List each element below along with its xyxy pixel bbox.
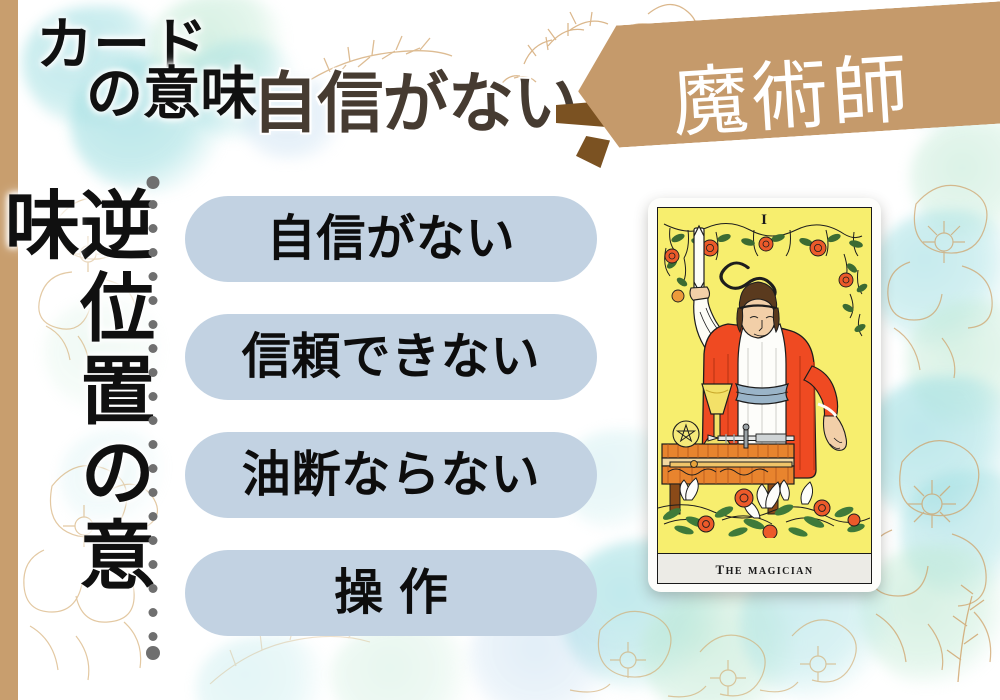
watercolor-blob (900, 470, 1000, 600)
list-item-label: 自信がない (267, 215, 516, 264)
section-label-vertical: 逆位置の意味 (52, 186, 148, 656)
watercolor-blob (860, 545, 1000, 685)
gold-sprig-line-art (930, 576, 1000, 686)
list-item[interactable]: 自信がない (185, 196, 597, 282)
card-name-label: 魔術師 (669, 27, 915, 152)
arrow-wedge-small-icon (576, 136, 610, 168)
kicker-text: カード の意味 (36, 18, 257, 121)
list-item-label: 油断ならない (242, 451, 540, 500)
tarot-card-numeral: I (658, 212, 871, 229)
tarot-card-title: THE MAGICIAN (715, 558, 813, 579)
tarot-card[interactable]: I (648, 198, 881, 592)
header: カード の意味 自信がない 魔術師 (0, 0, 1000, 180)
watercolor-blob (862, 376, 1000, 526)
dotted-divider-icon (145, 176, 161, 660)
magician-illustration (658, 208, 870, 538)
list-item-label: 操作 (318, 569, 463, 618)
page-title: 自信がない (252, 50, 579, 146)
tarot-card-artwork: I (657, 207, 872, 553)
watercolor-blob (872, 210, 1000, 350)
list-item-label: 信頼できない (242, 333, 540, 382)
list-item[interactable]: 油断ならない (185, 432, 597, 518)
infographic-canvas: カード の意味 自信がない 魔術師 逆位置の意味 (0, 0, 1000, 700)
list-item[interactable]: 操作 (185, 550, 597, 636)
tarot-card-inner: I (657, 207, 872, 584)
watercolor-blob (640, 590, 805, 700)
list-item[interactable]: 信頼できない (185, 314, 597, 400)
gold-floral-line-art (876, 150, 1000, 380)
watercolor-blob (906, 300, 1000, 430)
meaning-list: 自信がない 信頼できない 油断ならない 操作 (185, 196, 597, 668)
tarot-card-title-bar: THE MAGICIAN (657, 553, 872, 584)
